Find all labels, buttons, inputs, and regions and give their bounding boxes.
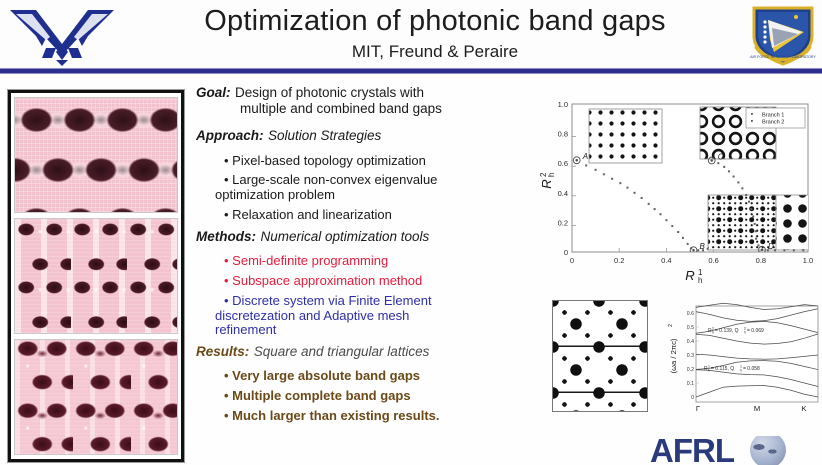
inset-D	[776, 195, 822, 250]
results-text: Square and triangular lattices	[254, 344, 430, 359]
scatter-point-label-D: D	[768, 242, 774, 251]
svg-text:1.0: 1.0	[803, 256, 813, 265]
goal-label: Goal:	[196, 85, 231, 100]
scatter-legend: · Branch 1 Branch 2	[746, 108, 805, 128]
slide-header: Optimization of photonic band gaps MIT, …	[0, 0, 822, 70]
results-line: Results: Square and triangular lattices	[196, 343, 514, 360]
approach-bullet-2: • Large-scale non-convex eigenvalue	[224, 173, 514, 188]
scatter-y-axis-label: R 2 h	[540, 172, 556, 189]
svg-text:0: 0	[570, 256, 574, 265]
svg-text:0.2: 0.2	[558, 218, 568, 227]
lattice-pattern-2	[14, 218, 178, 334]
methods-label: Methods:	[196, 229, 256, 244]
svg-text:h: h	[698, 276, 702, 285]
svg-text:= 0.139, Q: = 0.139, Q	[715, 328, 739, 334]
scatter-point-label-A: A	[582, 152, 588, 161]
approach-bullet-1: • Pixel-based topology optimization	[224, 154, 514, 169]
slide-root: Optimization of photonic band gaps MIT, …	[0, 0, 822, 465]
svg-text:0.1: 0.1	[687, 381, 694, 387]
svg-text:= 0.115, Q: = 0.115, Q	[711, 366, 734, 372]
svg-text:0.8: 0.8	[756, 256, 766, 265]
svg-text:0.3: 0.3	[687, 353, 694, 359]
svg-text:0: 0	[691, 395, 694, 401]
band-structure-chart: 0.6 0.5 0.4 0.3 0.2 0.1 0 (ωa / 2πc) 2 Γ…	[652, 300, 822, 418]
header-divider	[0, 68, 822, 74]
svg-text:= 0.058: = 0.058	[743, 366, 760, 372]
svg-text:0.5: 0.5	[687, 325, 694, 331]
svg-text:1.0: 1.0	[558, 100, 568, 109]
band-y-axis-label: (ωa / 2πc) 2	[668, 324, 678, 373]
svg-text:(ωa / 2πc): (ωa / 2πc)	[669, 338, 678, 373]
svg-text:2: 2	[668, 324, 674, 327]
methods-bullet-1: • Semi-definite programming	[224, 254, 514, 269]
lattice-image-panel	[8, 90, 184, 462]
svg-text:R: R	[540, 179, 554, 188]
legend-label-branch-2: Branch 2	[762, 119, 784, 125]
band-plot-area	[696, 306, 818, 402]
band-x-ticks: Γ M K	[696, 404, 807, 413]
scatter-y-ticks: 1.0 0.8 0.6 0.4 0.2 0	[558, 100, 568, 257]
svg-text:K: K	[801, 404, 806, 413]
inset-B	[708, 195, 776, 250]
title-block: Optimization of photonic band gaps MIT, …	[130, 2, 740, 64]
page-subtitle: MIT, Freund & Peraire	[130, 40, 740, 64]
approach-bullet-3: • Relaxation and linearization	[224, 208, 514, 223]
methods-line: Methods: Numerical optimization tools	[196, 228, 514, 245]
results-bullet-3: • Much larger than existing results.	[224, 409, 514, 424]
lattice-pattern-1	[14, 97, 178, 213]
svg-text:0.4: 0.4	[558, 189, 568, 198]
svg-text:h: h	[708, 369, 710, 373]
afrl-wordmark: AFRL	[650, 436, 820, 465]
results-bullet-2: • Multiple complete band gaps	[224, 389, 514, 404]
spacer	[196, 120, 514, 127]
svg-text:AIR FORCE RESEARCH LABORATORY: AIR FORCE RESEARCH LABORATORY	[750, 55, 816, 59]
svg-text:0.4: 0.4	[661, 256, 671, 265]
inset-A	[589, 109, 662, 163]
svg-text:0.4: 0.4	[687, 339, 694, 345]
svg-text:M: M	[754, 404, 760, 413]
air-force-logo	[6, 4, 118, 66]
svg-text:h: h	[744, 331, 746, 335]
methods-text: Numerical optimization tools	[260, 229, 429, 244]
band-y-ticks: 0.6 0.5 0.4 0.3 0.2 0.1 0	[687, 311, 694, 401]
scatter-chart-band-gap-map: 1.0 0.8 0.6 0.4 0.2 0 0 0.2 0.4 0.6 0.8 …	[540, 96, 822, 288]
goal-text: Design of photonic crystals with	[235, 85, 424, 100]
svg-text:h: h	[740, 369, 742, 373]
methods-bullet-3: • Discrete system via Finite Element	[224, 294, 514, 309]
scatter-point-label-C: C	[718, 153, 724, 162]
svg-text:0.2: 0.2	[687, 367, 694, 373]
methods-bullet-3-cont2: refinement	[215, 323, 514, 338]
svg-text:0.6: 0.6	[687, 311, 694, 317]
svg-text:0.6: 0.6	[558, 159, 568, 168]
afrl-shield-logo: AIR FORCE RESEARCH LABORATORY	[748, 2, 818, 68]
scatter-x-axis-label: R 1 h	[685, 268, 703, 285]
methods-bullet-2: • Subspace approximation method	[224, 274, 514, 289]
approach-line: Approach: Solution Strategies	[196, 127, 514, 144]
approach-bullet-2-cont: optimization problem	[215, 188, 514, 203]
results-bullet-1: • Very large absolute band gaps	[224, 369, 514, 384]
triangular-lattice-bw	[552, 300, 648, 412]
svg-text:R: R	[685, 268, 694, 283]
svg-text:0: 0	[564, 248, 568, 257]
svg-text:= 0.069: = 0.069	[747, 328, 764, 334]
globe-icon	[750, 436, 786, 465]
methods-bullet-3-cont1: discretezation and Adaptive mesh	[215, 309, 514, 324]
svg-text:Γ: Γ	[696, 404, 700, 413]
lattice-pattern-3	[14, 339, 178, 455]
svg-text:0.6: 0.6	[708, 256, 718, 265]
results-label: Results:	[196, 344, 249, 359]
slide-body-text: Goal: Design of photonic crystals with m…	[196, 84, 514, 424]
svg-text:0.2: 0.2	[614, 256, 624, 265]
approach-text: Solution Strategies	[268, 128, 381, 143]
approach-label: Approach:	[196, 128, 264, 143]
legend-label-branch-1: Branch 1	[762, 112, 784, 118]
svg-text:h: h	[547, 173, 556, 177]
band-diagram-group: 0.6 0.5 0.4 0.3 0.2 0.1 0 (ωa / 2πc) 2 Γ…	[552, 300, 822, 420]
scatter-x-ticks: 0 0.2 0.4 0.6 0.8 1.0	[570, 256, 813, 265]
goal-text-cont: multiple and combined band gaps	[240, 101, 514, 116]
svg-text:0.8: 0.8	[558, 130, 568, 139]
scatter-point-label-B: B	[700, 242, 706, 251]
svg-text:h: h	[712, 331, 714, 335]
afrl-wordmark-text: AFRL	[650, 436, 734, 465]
goal-line: Goal: Design of photonic crystals with m…	[196, 84, 514, 116]
page-title: Optimization of photonic band gaps	[130, 2, 740, 40]
